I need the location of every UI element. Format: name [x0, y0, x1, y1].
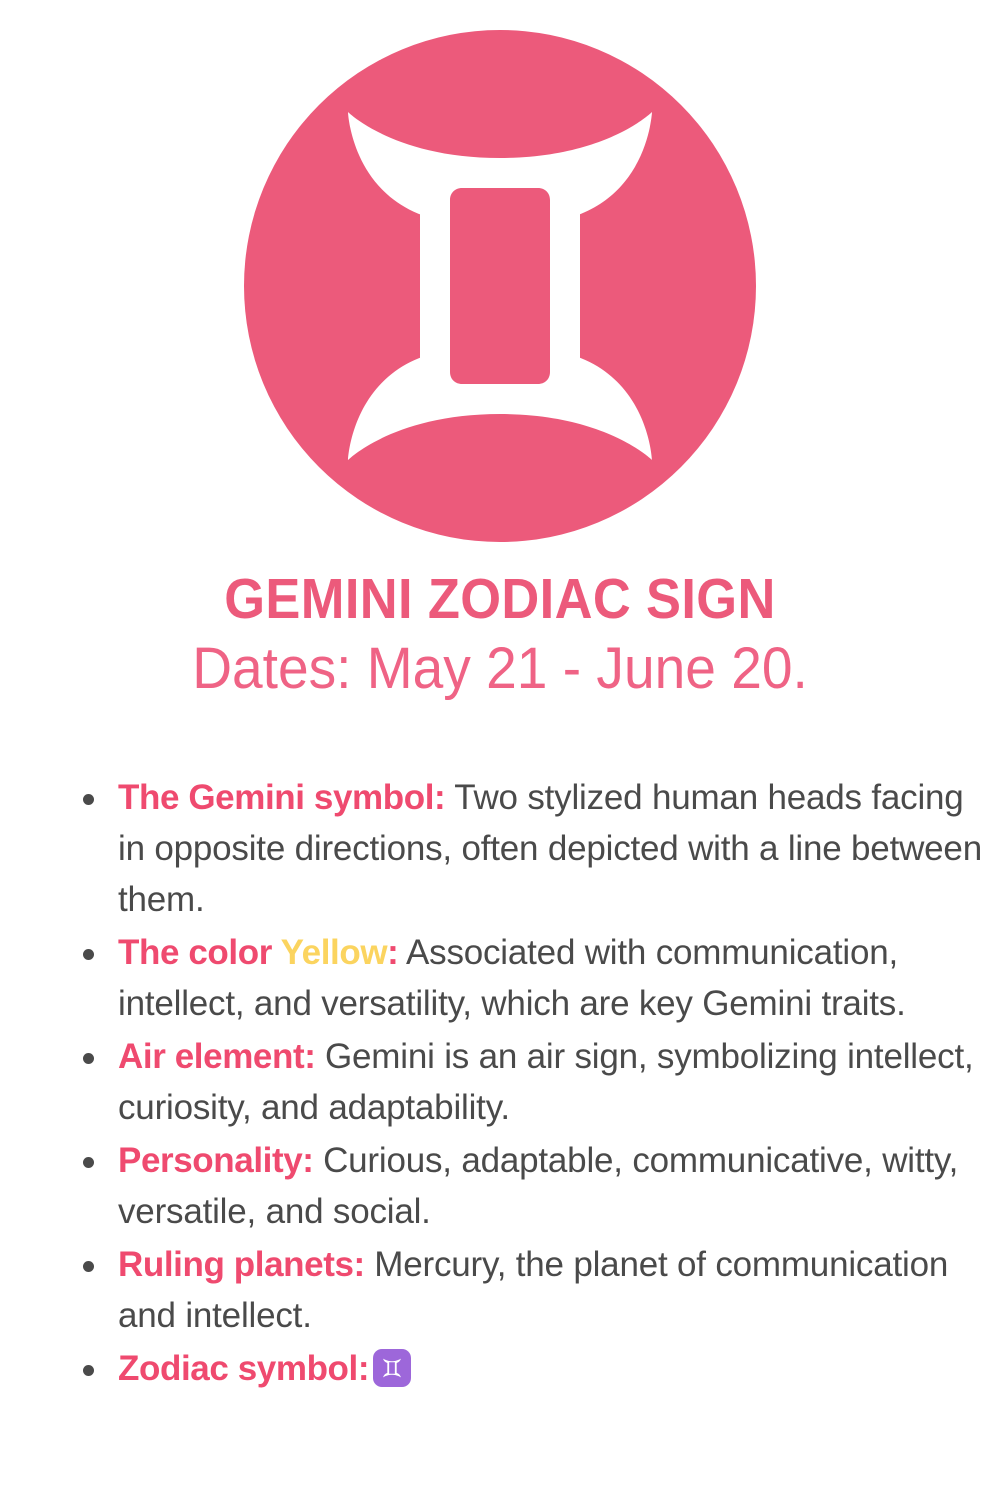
- fact-lead: The color: [118, 933, 281, 972]
- list-item: The Gemini symbol: Two stylized human he…: [62, 772, 992, 925]
- gemini-emoji-icon: [373, 1349, 411, 1387]
- list-item: Zodiac symbol:: [62, 1343, 992, 1394]
- fact-lead: Personality:: [118, 1141, 314, 1180]
- gemini-emoji-glyph-icon: [379, 1355, 405, 1381]
- gemini-facts-list: The Gemini symbol: Two stylized human he…: [62, 772, 992, 1396]
- fact-lead: Zodiac symbol:: [118, 1349, 369, 1388]
- page-title: GEMINI ZODIAC SIGN: [40, 566, 960, 632]
- gemini-zodiac-infographic: GEMINI ZODIAC SIGN Dates: May 21 - June …: [0, 0, 1000, 1500]
- list-item: Ruling planets: Mercury, the planet of c…: [62, 1239, 992, 1341]
- fact-lead-accent: Yellow: [281, 933, 388, 972]
- gemini-zodiac-glyph-icon: [244, 30, 756, 542]
- fact-lead-tail: :: [387, 933, 398, 972]
- fact-lead: Ruling planets:: [118, 1245, 365, 1284]
- list-item: Personality: Curious, adaptable, communi…: [62, 1135, 992, 1237]
- list-item: Air element: Gemini is an air sign, symb…: [62, 1031, 992, 1133]
- page-subtitle: Dates: May 21 - June 20.: [25, 634, 975, 704]
- list-item: The color Yellow: Associated with commun…: [62, 927, 992, 1029]
- fact-lead: The Gemini symbol:: [118, 778, 445, 817]
- fact-lead: Air element:: [118, 1037, 315, 1076]
- heading-block: GEMINI ZODIAC SIGN Dates: May 21 - June …: [0, 566, 1000, 704]
- gemini-emblem: [0, 28, 1000, 544]
